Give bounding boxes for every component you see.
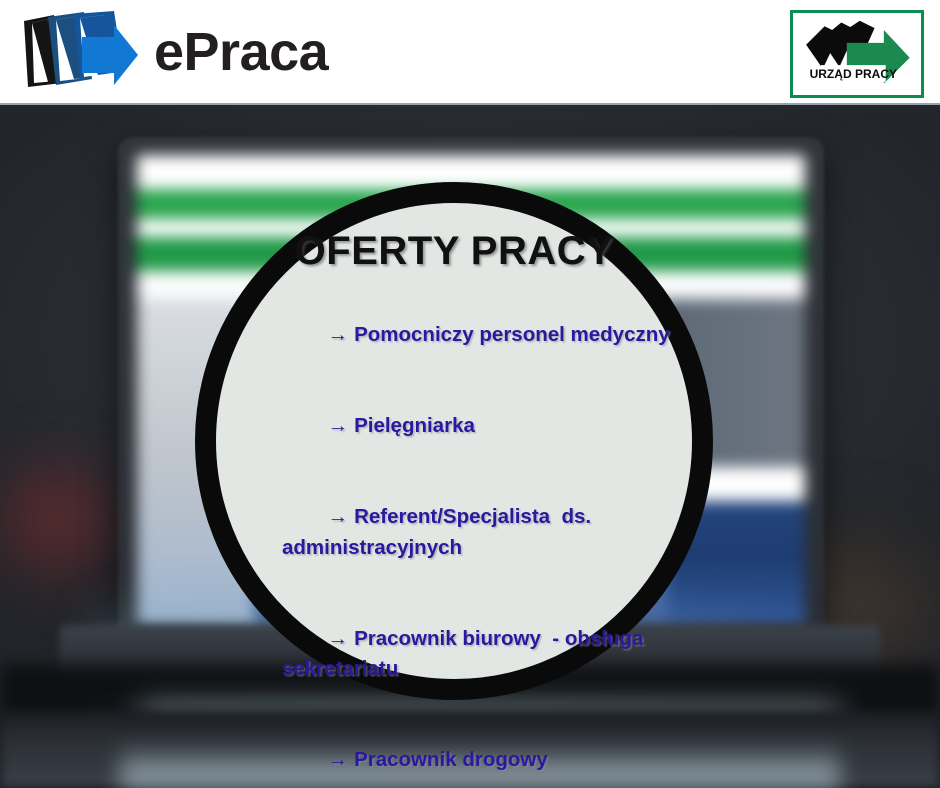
arrow-icon: → bbox=[328, 627, 349, 650]
offers-callout: OFERTY PRACY →Pomocniczy personel medycz… bbox=[195, 182, 713, 700]
stacked-arrows-logo-icon bbox=[18, 11, 140, 93]
job-offer-list: →Pomocniczy personel medyczny →Pielęgnia… bbox=[226, 290, 682, 788]
list-item: →Pomocniczy personel medyczny bbox=[260, 290, 676, 381]
list-item-label: Pracownik drogowy bbox=[354, 748, 548, 771]
list-item-label: Pomocniczy personel medyczny bbox=[354, 323, 670, 346]
list-item: →Pracownik biurowy - obsługa sekretariat… bbox=[260, 593, 676, 714]
callout-title: OFERTY PRACY bbox=[295, 229, 614, 274]
list-item: →Pielęgniarka bbox=[260, 381, 676, 472]
list-item-label: Pielęgniarka bbox=[354, 414, 475, 437]
agency-badge-label: URZĄD PRACY bbox=[810, 67, 897, 81]
list-item: →Referent/Specjalista ds. administracyjn… bbox=[260, 472, 676, 593]
list-item: →Pracownik drogowy bbox=[260, 715, 676, 788]
brand-lockup[interactable]: ePraca bbox=[18, 8, 328, 96]
arrow-icon: → bbox=[328, 748, 349, 771]
site-header: ePraca URZĄD PRACY bbox=[0, 0, 940, 105]
poster-root: ePraca URZĄD PRACY bbox=[0, 0, 940, 788]
arrow-icon: → bbox=[328, 323, 349, 346]
arrow-icon: → bbox=[328, 414, 349, 437]
arrow-icon: → bbox=[328, 505, 349, 528]
agency-badge[interactable]: URZĄD PRACY bbox=[790, 10, 924, 98]
brand-name: ePraca bbox=[154, 25, 328, 79]
